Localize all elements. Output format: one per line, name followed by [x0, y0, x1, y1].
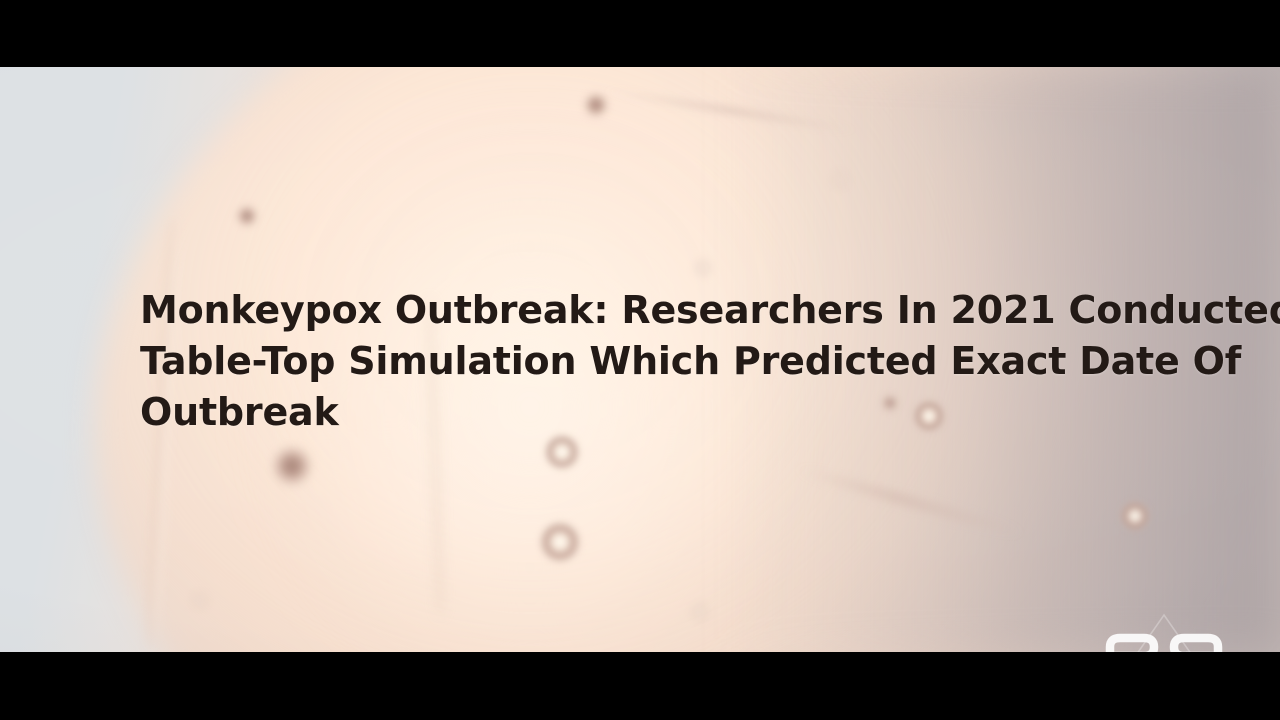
double-r-monogram-logo	[1084, 607, 1244, 652]
logo-letter-r-right	[1174, 638, 1218, 652]
logo-letter-r-left	[1110, 638, 1154, 652]
letterbox-bar-bottom	[0, 652, 1280, 720]
lesion-upper-left	[236, 205, 258, 227]
lesion-top-center	[583, 92, 609, 118]
headline-line-2: Table-Top Simulation Which Predicted Exa…	[140, 336, 1160, 387]
lesion-lower-left-small	[191, 591, 209, 609]
lesion-center	[537, 519, 583, 565]
lesion-center-upper	[542, 432, 582, 472]
lesion-upper-right-faint	[831, 171, 849, 189]
lesion-far-right	[1118, 499, 1152, 533]
headline-line-3: Outbreak	[140, 387, 1160, 438]
triangle-outline-icon	[1118, 615, 1210, 652]
lesion-lower-center	[690, 602, 710, 622]
lesion-left-mid	[270, 444, 314, 488]
lesion-mid-right-text	[693, 258, 713, 278]
letterbox-bar-top	[0, 0, 1280, 67]
video-frame[interactable]: Monkeypox Outbreak: Researchers In 2021 …	[0, 67, 1280, 652]
headline-line-1: Monkeypox Outbreak: Researchers In 2021 …	[140, 285, 1160, 336]
headline-overlay: Monkeypox Outbreak: Researchers In 2021 …	[140, 285, 1160, 438]
video-player-screen: Monkeypox Outbreak: Researchers In 2021 …	[0, 0, 1280, 720]
